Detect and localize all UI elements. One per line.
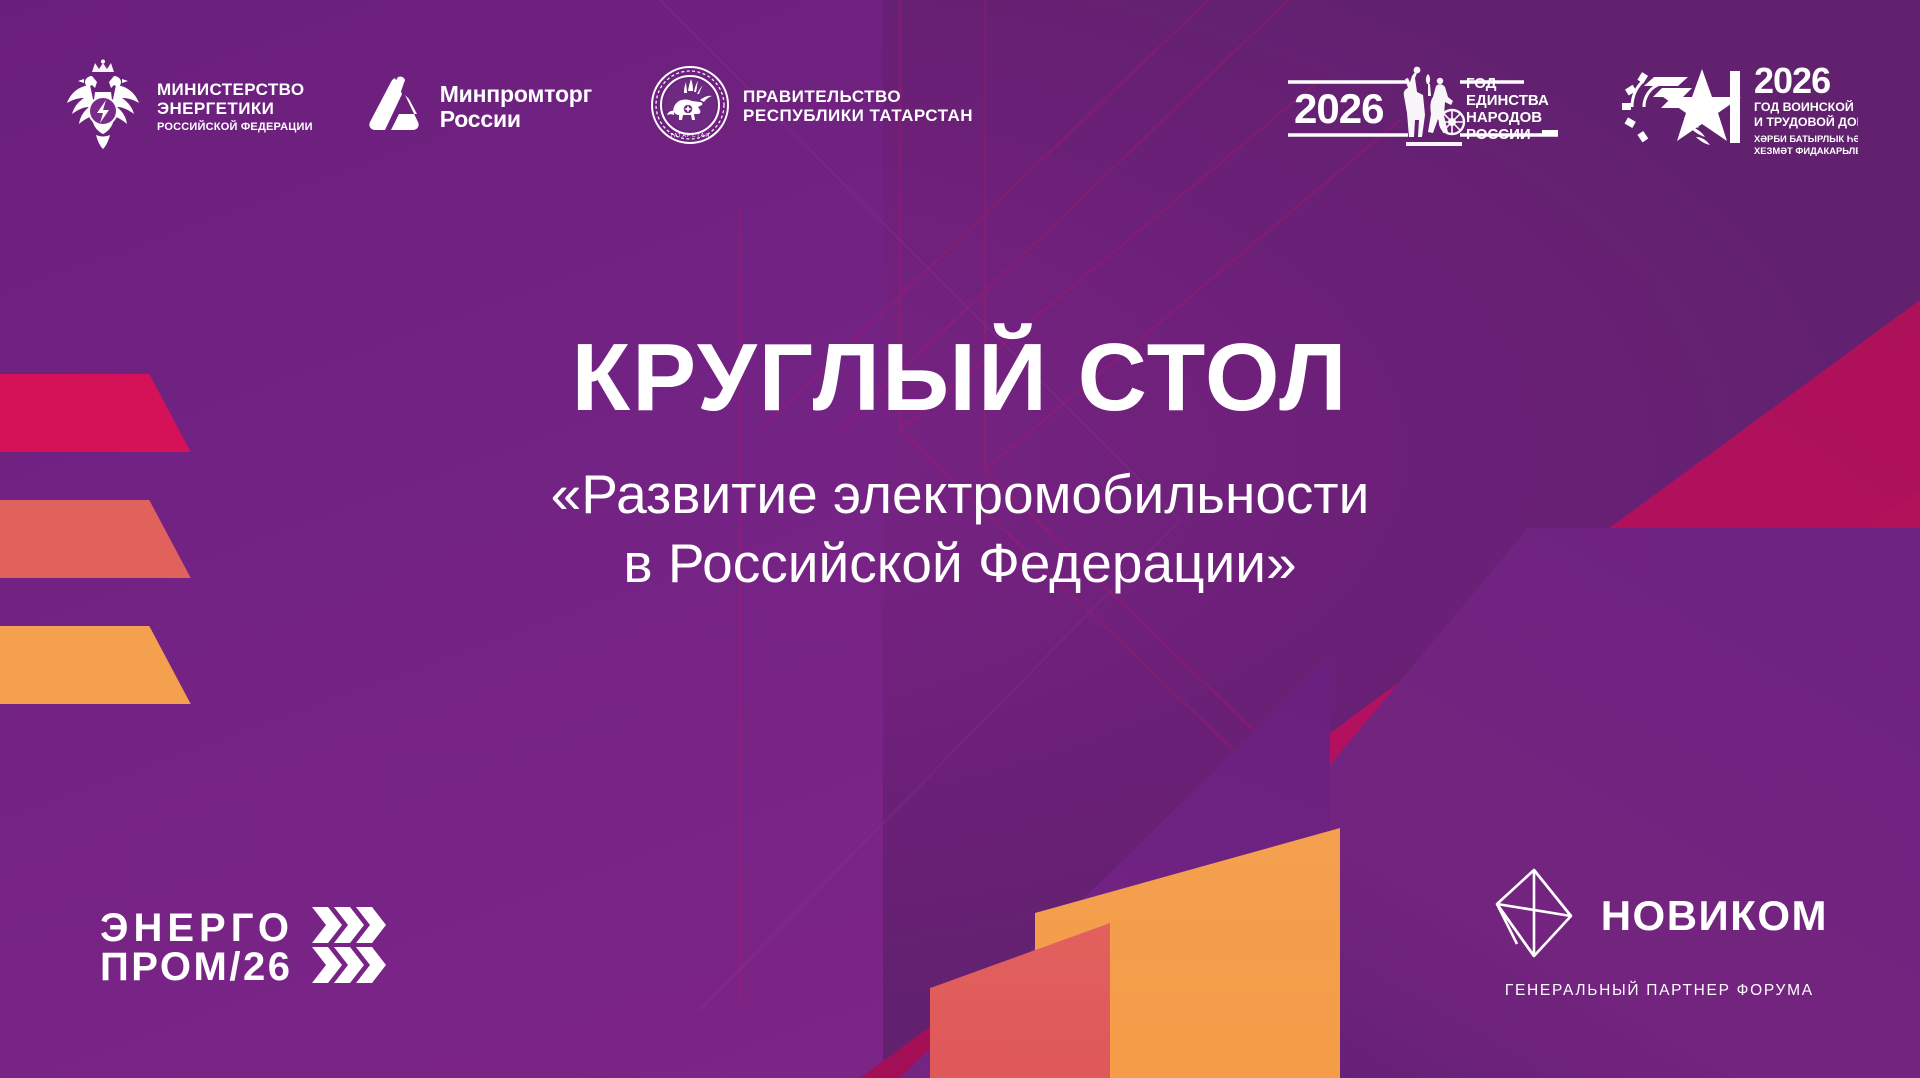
- svg-text:НАРОДОВ: НАРОДОВ: [1466, 109, 1542, 126]
- tatarstan-line2: РЕСПУБЛИКИ ТАТАРСТАН: [743, 107, 973, 126]
- svg-text:ХЕЗМӘТ ФИДАКАРЬЛЕГЕ ЕЛЫ: ХЕЗМӘТ ФИДАКАРЬЛЕГЕ ЕЛЫ: [1754, 145, 1858, 156]
- triple-chevron-icon: [310, 905, 388, 990]
- year-of-unity-emblem-icon: 2026: [1286, 58, 1568, 156]
- svg-text:РОССИИ: РОССИИ: [1466, 126, 1531, 143]
- energoprom-text: ЭНЕРГО ПРОМ/26: [100, 909, 294, 986]
- novikom-role: ГЕНЕРАЛЬНЫЙ ПАРТНЕР ФОРУМА: [1505, 982, 1814, 1000]
- svg-text:2026: 2026: [1754, 60, 1830, 101]
- triangle-delta-icon: [365, 74, 427, 141]
- logo-energoprom: ЭНЕРГО ПРОМ/26: [100, 905, 388, 990]
- polygon-prism-icon: [1491, 866, 1577, 965]
- energoprom-line1: ЭНЕРГО: [100, 909, 294, 947]
- logo-minpromtorg-text: Минпромторг России: [440, 82, 592, 133]
- svg-text:2026: 2026: [1294, 85, 1383, 132]
- event-subtitle: «Развитие электромобильности в Российско…: [0, 460, 1920, 599]
- tatarstan-line1: ПРАВИТЕЛЬСТВО: [743, 88, 973, 107]
- year-of-valour-emblem-icon: 2026 ГОД ВОИНСКОЙ И ТРУДОВОЙ ДОБЛЕСТИ ХӘ…: [1610, 55, 1858, 159]
- minenergo-line2: ЭНЕРГЕТИКИ: [157, 100, 313, 119]
- svg-text:ХӘРБИ БАТЫРЛЫК ҺӘМ: ХӘРБИ БАТЫРЛЫК ҺӘМ: [1754, 133, 1858, 144]
- winged-snow-leopard-seal-icon: ТАТАРСТАН: [650, 65, 730, 150]
- svg-text:ЕДИНСТВА: ЕДИНСТВА: [1466, 92, 1549, 109]
- logo-tatarstan-text: ПРАВИТЕЛЬСТВО РЕСПУБЛИКИ ТАТАРСТАН: [743, 88, 973, 125]
- event-headline: КРУГЛЫЙ СТОЛ: [0, 330, 1920, 426]
- event-title-block: КРУГЛЫЙ СТОЛ «Развитие электромобильност…: [0, 330, 1920, 599]
- minpromtorg-line2: России: [440, 107, 592, 132]
- logo-tatarstan-government: ТАТАРСТАН ПРАВИТЕЛЬСТВО РЕСПУБЛИКИ ТАТАР…: [650, 65, 973, 150]
- partner-logo-bar: МИНИСТЕРСТВО ЭНЕРГЕТИКИ РОССИЙСКОЙ ФЕДЕР…: [0, 52, 1920, 162]
- logo-minenergo-text: МИНИСТЕРСТВО ЭНЕРГЕТИКИ РОССИЙСКОЙ ФЕДЕР…: [157, 81, 313, 132]
- minenergo-line1: МИНИСТЕРСТВО: [157, 81, 313, 100]
- novikom-row: НОВИКОМ: [1491, 866, 1828, 965]
- logo-novikom: НОВИКОМ ГЕНЕРАЛЬНЫЙ ПАРТНЕР ФОРУМА: [1491, 866, 1828, 1000]
- logo-year-of-valour: 2026 ГОД ВОИНСКОЙ И ТРУДОВОЙ ДОБЛЕСТИ ХӘ…: [1610, 55, 1858, 159]
- minenergo-line3: РОССИЙСКОЙ ФЕДЕРАЦИИ: [157, 121, 313, 133]
- svg-text:ГОД: ГОД: [1466, 75, 1497, 92]
- svg-text:ТАТАРСТАН: ТАТАРСТАН: [670, 133, 711, 139]
- svg-text:И ТРУДОВОЙ ДОБЛЕСТИ: И ТРУДОВОЙ ДОБЛЕСТИ: [1754, 114, 1858, 129]
- logo-minpromtorg: Минпромторг России: [365, 74, 592, 141]
- energoprom-line2: ПРОМ/26: [100, 948, 294, 986]
- double-headed-eagle-icon: [62, 59, 144, 156]
- novikom-name: НОВИКОМ: [1601, 892, 1828, 940]
- logo-minenergo: МИНИСТЕРСТВО ЭНЕРГЕТИКИ РОССИЙСКОЙ ФЕДЕР…: [62, 59, 313, 156]
- event-banner: МИНИСТЕРСТВО ЭНЕРГЕТИКИ РОССИЙСКОЙ ФЕДЕР…: [0, 0, 1920, 1078]
- logo-year-of-unity: 2026: [1286, 58, 1568, 156]
- minpromtorg-line1: Минпромторг: [440, 82, 592, 107]
- svg-text:ГОД ВОИНСКОЙ: ГОД ВОИНСКОЙ: [1754, 99, 1854, 114]
